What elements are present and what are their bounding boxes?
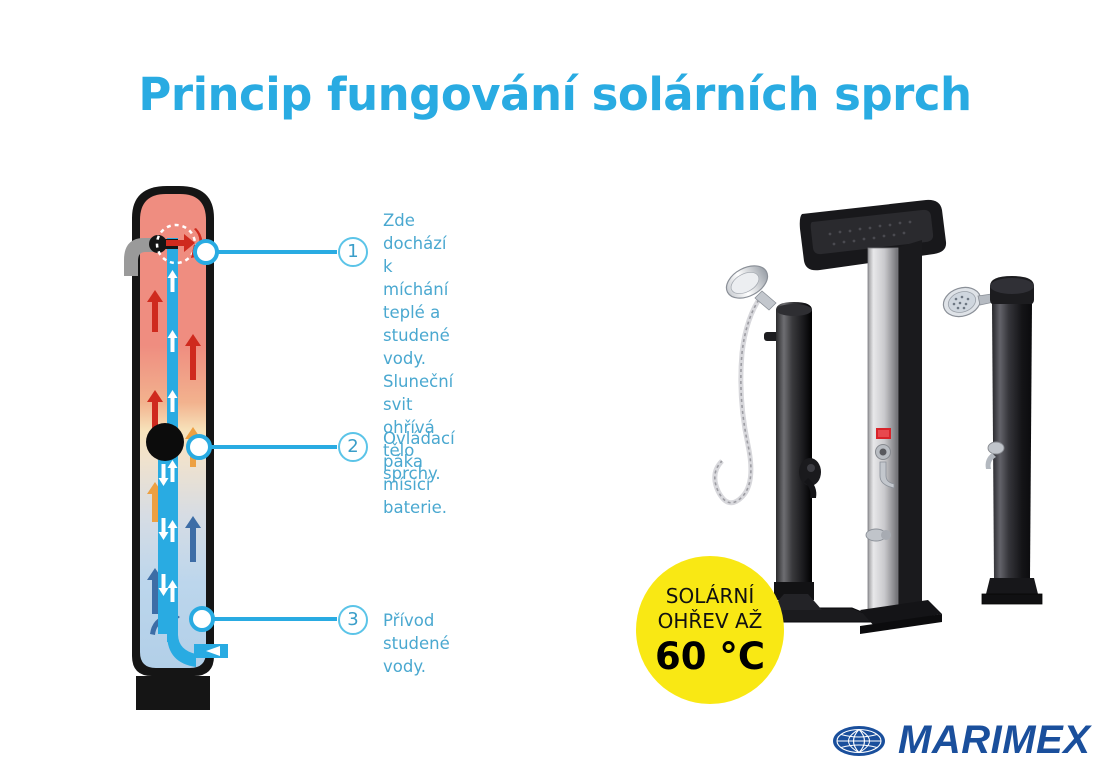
- product3-base: [986, 578, 1038, 594]
- callout-2-text: Ovládací páka mísící baterie.: [383, 427, 455, 519]
- solar-shower-cutaway-diagram: [118, 182, 298, 712]
- page-title: Princip fungování solárních sprch: [0, 68, 1110, 121]
- brand-name: MARIMEX: [898, 718, 1090, 763]
- solar-heating-badge: SOLÁRNÍ OHŘEV AŽ 60 °C: [636, 556, 784, 704]
- badge-line-2: OHŘEV AŽ: [658, 609, 763, 634]
- mixer-lever-knob: [146, 423, 184, 461]
- callout-2-number: 2: [338, 432, 368, 462]
- infographic-page: Princip fungování solárních sprch: [0, 0, 1110, 780]
- callout-1-number: 1: [338, 237, 368, 267]
- handheld-shower-head: [721, 259, 776, 310]
- marimex-logo: MARIMEX: [832, 718, 1090, 763]
- tank-base: [136, 676, 210, 710]
- callout-3-text: Přívod studené vody.: [383, 609, 450, 678]
- badge-line-1: SOLÁRNÍ: [666, 584, 754, 609]
- product2-foot-valve: [866, 529, 891, 541]
- product-dark-round-shower: [940, 276, 1042, 604]
- badge-temperature: 60 °C: [655, 636, 765, 677]
- globe-icon: [832, 724, 886, 758]
- product-silver-square-shower: [800, 200, 946, 634]
- disc-shower-head: [940, 283, 994, 321]
- callout-3-number: 3: [338, 605, 368, 635]
